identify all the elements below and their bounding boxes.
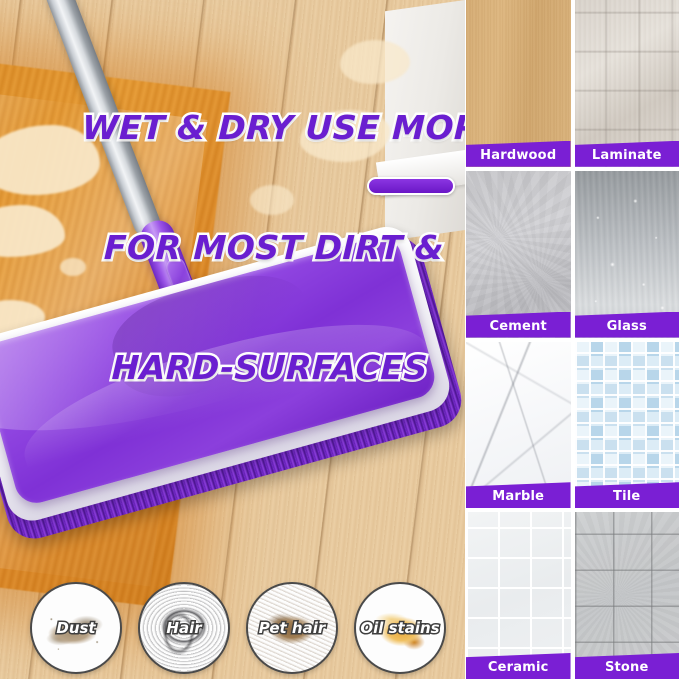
surface-cell-marble: Marble xyxy=(466,342,571,509)
badge-label: Hair xyxy=(166,619,201,637)
product-infographic: WET & DRY USE MOP FOR MOST DIRT & HARD-S… xyxy=(0,0,679,679)
surface-caption: Stone xyxy=(575,653,679,679)
surface-cell-ceramic: Ceramic xyxy=(466,512,571,679)
surface-label: Cement xyxy=(490,319,547,334)
badge-pet-hair: Pet hair xyxy=(246,582,338,674)
badge-dust: Dust xyxy=(30,582,122,674)
surface-cell-hardwood: Hardwood xyxy=(466,0,571,167)
surface-caption: Cement xyxy=(466,312,571,338)
headline-line-2: FOR MOST DIRT & xyxy=(77,228,465,268)
surface-label: Stone xyxy=(605,660,649,675)
headline-text: WET & DRY USE MOP FOR MOST DIRT & HARD-S… xyxy=(70,28,465,468)
purple-pill-divider xyxy=(367,177,455,195)
badge-hair: Hair xyxy=(138,582,230,674)
surface-cell-stone: Stone xyxy=(575,512,679,679)
surface-caption: Hardwood xyxy=(466,141,571,167)
dirt-type-badges: Dust Hair Pet hair Oil stains xyxy=(30,582,460,674)
surface-label: Marble xyxy=(492,489,544,504)
surface-label: Tile xyxy=(613,489,640,504)
surface-label: Laminate xyxy=(592,148,662,163)
surface-caption: Tile xyxy=(575,482,679,508)
surface-cell-cement: Cement xyxy=(466,171,571,338)
product-photo-panel: WET & DRY USE MOP FOR MOST DIRT & HARD-S… xyxy=(0,0,465,679)
headline-line-1: WET & DRY USE MOP xyxy=(81,108,465,148)
surface-caption: Ceramic xyxy=(466,653,571,679)
headline-line-3: HARD-SURFACES xyxy=(73,348,465,388)
surface-label: Ceramic xyxy=(488,660,549,675)
surface-cell-laminate: Laminate xyxy=(575,0,679,167)
surface-cell-glass: Glass xyxy=(575,171,679,338)
badge-oil-stains: Oil stains xyxy=(354,582,446,674)
badge-label: Pet hair xyxy=(259,619,326,637)
surface-cell-tile: Tile xyxy=(575,342,679,509)
badge-label: Oil stains xyxy=(360,619,439,637)
surface-caption: Glass xyxy=(575,312,679,338)
badge-label: Dust xyxy=(56,619,95,637)
surface-label: Hardwood xyxy=(480,148,556,163)
surface-caption: Marble xyxy=(466,482,571,508)
surface-caption: Laminate xyxy=(575,141,679,167)
surface-types-grid: Hardwood Laminate Cement Glass Marble xyxy=(466,0,679,679)
surface-label: Glass xyxy=(607,319,647,334)
